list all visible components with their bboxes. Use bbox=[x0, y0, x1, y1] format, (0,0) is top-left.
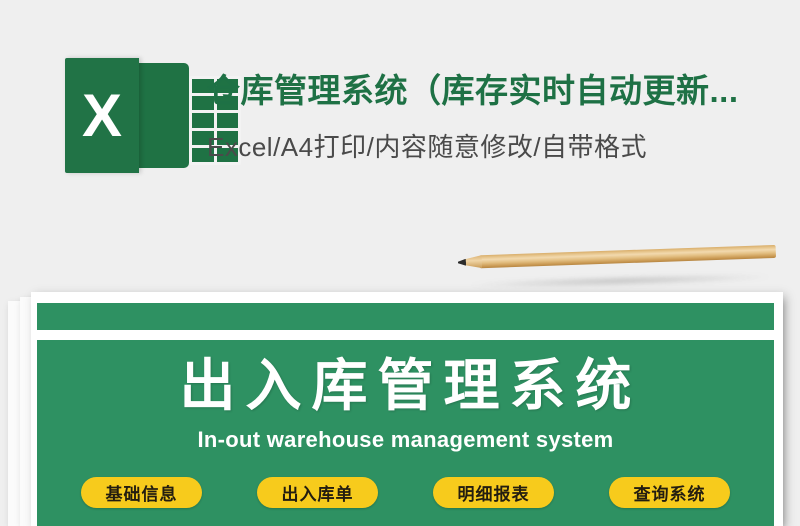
preview-title-cn: 出入库管理系统 bbox=[37, 351, 774, 423]
button-query-system[interactable]: 查询系统 bbox=[609, 477, 730, 508]
pencil-body bbox=[480, 245, 776, 268]
panel-divider-stripe bbox=[37, 330, 774, 340]
button-in-out-order[interactable]: 出入库单 bbox=[257, 477, 378, 508]
excel-icon: X bbox=[65, 58, 195, 173]
excel-x-letter: X bbox=[65, 58, 139, 173]
button-basic-info[interactable]: 基础信息 bbox=[81, 477, 202, 508]
page-subtitle: Excel/A4打印/内容随意修改/自带格式 bbox=[207, 131, 800, 163]
preview-button-row: 基础信息 出入库单 明细报表 查询系统 bbox=[37, 477, 774, 508]
pencil-tip-lead bbox=[458, 259, 466, 266]
pencil-icon bbox=[458, 244, 776, 271]
button-detail-report[interactable]: 明细报表 bbox=[433, 477, 554, 508]
pencil-shadow bbox=[470, 272, 770, 290]
header-band: X 仓库管理系统（库存实时自动更新... Excel/A4打印/内容随意修改/自… bbox=[0, 0, 800, 220]
preview-panel: 出入库管理系统 In-out warehouse management syst… bbox=[37, 303, 774, 526]
page-title: 仓库管理系统（库存实时自动更新... bbox=[207, 72, 800, 110]
excel-x-panel: X bbox=[65, 58, 139, 173]
preview-title-en: In-out warehouse management system bbox=[37, 426, 774, 454]
grid-cell bbox=[192, 113, 214, 127]
grid-cell bbox=[217, 113, 239, 127]
